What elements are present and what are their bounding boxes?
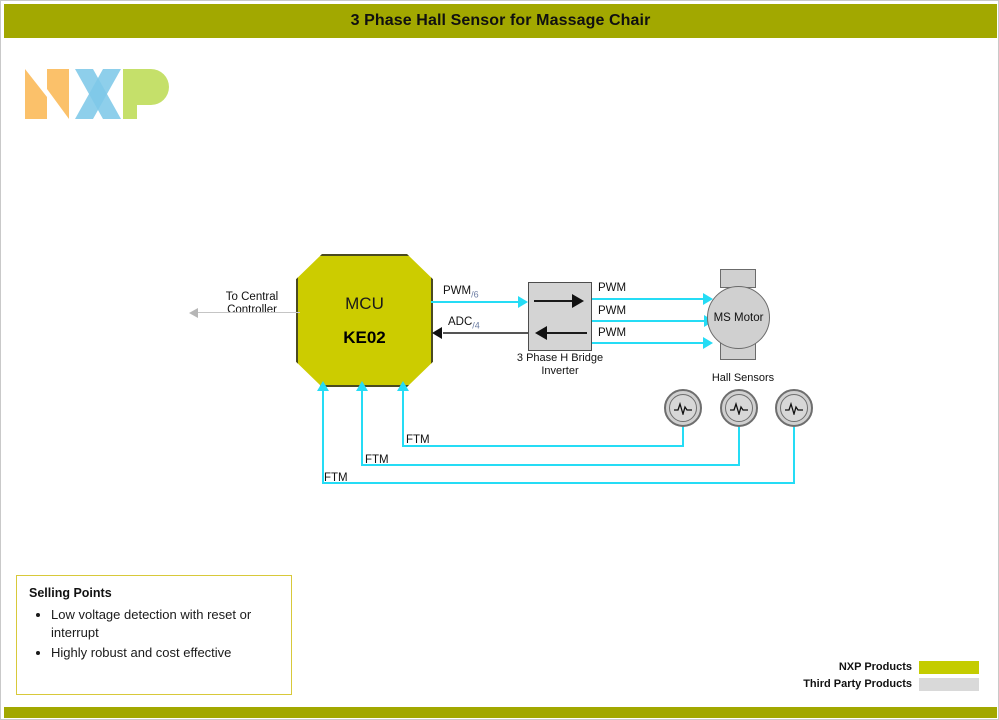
pwm-bus-label: PWM/6 [443,285,479,299]
pwm-phase-2-line [592,320,708,322]
page-title: 3 Phase Hall Sensor for Massage Chair [4,4,997,38]
waveform-icon [729,401,749,415]
legend: NXP Products Third Party Products [761,660,979,694]
inverter-reverse-arrow-shaft [547,332,587,334]
list-item: Low voltage detection with reset or inte… [51,606,279,642]
ftm-feedback-1-rise [402,391,404,447]
legend-row-nxp: NXP Products [761,660,979,674]
legend-swatch-nxp [919,661,979,674]
selling-points-list: Low voltage detection with reset or inte… [29,606,279,662]
inverter-reverse-arrow-head [535,326,547,340]
hall-sensors-caption: Hall Sensors [693,372,793,384]
adc-bus-line [443,332,529,334]
legend-row-third-party: Third Party Products [761,677,979,691]
mcu-label-part: KE02 [343,328,386,348]
ftm-feedback-2-label: FTM [365,454,389,466]
ftm-feedback-3-run [322,482,795,484]
adc-bus-arrowhead [432,327,442,339]
pwm-bus-line [431,301,519,303]
ftm-feedback-3-rise [322,391,324,484]
mcu-block[interactable]: MCU KE02 [296,254,433,387]
pwm-phase-2-label: PWM [598,305,626,317]
inverter-forward-arrow-head [572,294,584,308]
pwm-phase-3-arrowhead [703,337,713,349]
slide-canvas: 3 Phase Hall Sensor for Massage Chair MC… [0,0,999,720]
to-central-controller-arrowhead [189,308,198,318]
ftm-feedback-1-run [402,445,684,447]
nxp-logo [23,63,171,125]
ftm-feedback-1-label: FTM [406,434,430,446]
to-central-controller-line [197,312,300,313]
ftm-feedback-2-drop [738,427,740,466]
footer-bar [4,707,997,718]
ftm-feedback-3-drop [793,427,795,484]
adc-bus-label: ADC/4 [448,316,480,330]
pwm-bus-arrowhead [518,296,528,308]
hall-sensor-2[interactable] [720,389,758,427]
inverter-caption: 3 Phase H Bridge Inverter [505,352,615,378]
ftm-feedback-3-arrowhead [317,381,329,391]
hall-sensor-2-ring [725,394,753,422]
adc-bus-width: /4 [472,320,480,330]
legend-label-third-party: Third Party Products [803,678,912,690]
hall-sensor-3[interactable] [775,389,813,427]
ftm-feedback-2-rise [361,391,363,466]
inverter-forward-arrow-shaft [534,300,574,302]
ftm-feedback-1-arrowhead [397,381,409,391]
title-bar: 3 Phase Hall Sensor for Massage Chair [4,4,997,38]
selling-points-title: Selling Points [29,586,279,600]
pwm-bus-width: /6 [471,289,479,299]
pwm-phase-3-line [592,342,706,344]
mcu-label-family: MCU [345,294,384,314]
h-bridge-inverter-block[interactable] [528,282,592,351]
waveform-icon [673,401,693,415]
pwm-phase-3-label: PWM [598,327,626,339]
ftm-feedback-2-run [361,464,740,466]
hall-sensor-1-ring [669,394,697,422]
ms-motor-block[interactable]: MS Motor [707,286,770,349]
ftm-feedback-1-drop [682,427,684,447]
ftm-feedback-3-label: FTM [324,472,348,484]
pwm-phase-1-label: PWM [598,282,626,294]
legend-label-nxp: NXP Products [839,661,912,673]
ftm-feedback-2-arrowhead [356,381,368,391]
ms-motor-label: MS Motor [714,312,764,324]
list-item: Highly robust and cost effective [51,644,279,662]
legend-swatch-third-party [919,678,979,691]
nxp-logo-mark [23,63,171,125]
selling-points-panel: Selling Points Low voltage detection wit… [16,575,292,695]
pwm-phase-1-line [592,298,706,300]
hall-sensor-1[interactable] [664,389,702,427]
hall-sensor-3-ring [780,394,808,422]
waveform-icon [784,401,804,415]
to-central-controller-label: To Central Controller [209,291,295,317]
